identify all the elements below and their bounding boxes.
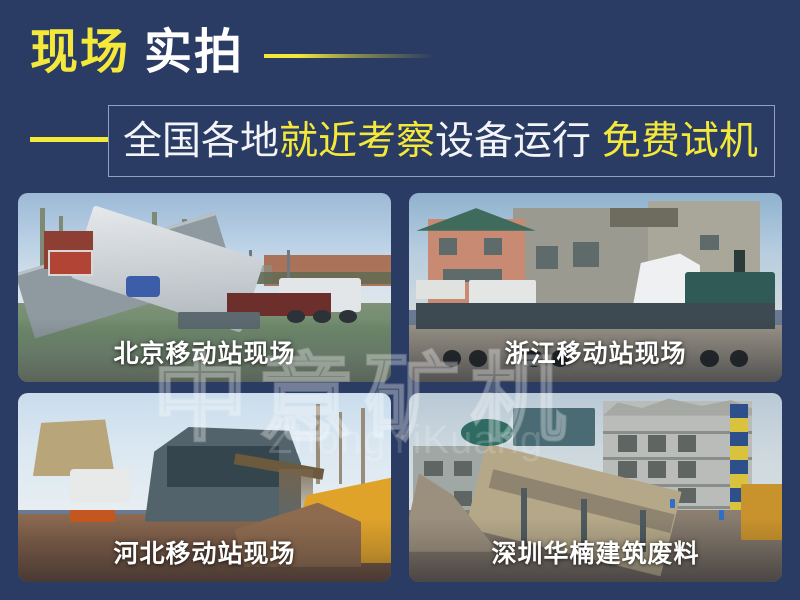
title-underline-rule [264,54,434,58]
gallery-card-caption: 河北移动站现场 [18,534,391,570]
gallery-card-beijing[interactable]: 北京移动站现场 [18,193,391,382]
subtitle-text: 全国各地就近考察设备运行 免费试机 [123,122,758,161]
page-title-rest: 实拍 [144,29,244,77]
promo-banner: 现场 实拍 全国各地就近考察设备运行 免费试机 [0,0,800,600]
page-title-highlight: 现场 [30,29,130,77]
subtitle-box: 全国各地就近考察设备运行 免费试机 [108,105,775,177]
subtitle-segment-3: 设备运行 [435,120,591,163]
subtitle-dash-rule [30,137,108,142]
page-title: 现场 实拍 [30,22,434,84]
gallery-card-caption: 浙江移动站现场 [409,334,782,370]
photo-gallery-grid: 北京移动站现场 [18,193,782,582]
gallery-card-caption: 北京移动站现场 [18,334,391,370]
gallery-card-hebei[interactable]: 河北移动站现场 [18,393,391,582]
gallery-card-caption: 深圳华楠建筑废料 [409,534,782,570]
subtitle-segment-2: 就近考察 [279,120,435,163]
subtitle-segment-4: 免费试机 [591,120,758,163]
subtitle-segment-1: 全国各地 [123,120,279,163]
banner-header: 现场 实拍 全国各地就近考察设备运行 免费试机 [0,0,800,188]
gallery-card-shenzhen[interactable]: 深圳华楠建筑废料 [409,393,782,582]
gallery-card-zhejiang[interactable]: 浙江移动站现场 [409,193,782,382]
